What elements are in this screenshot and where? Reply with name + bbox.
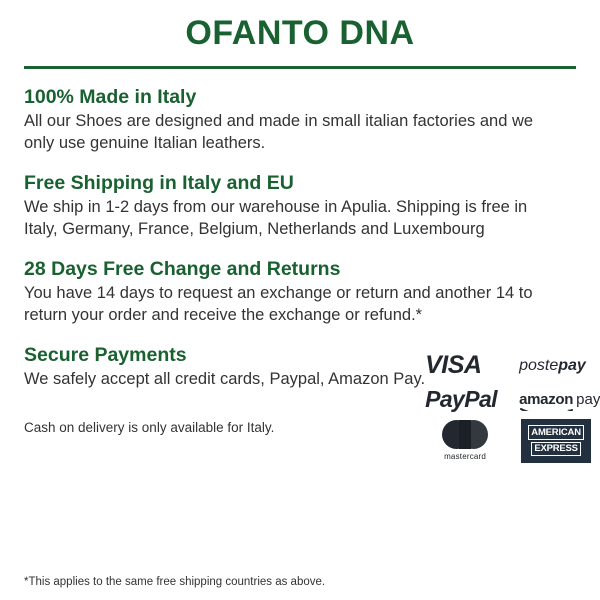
mastercard-circle-overlap (459, 420, 471, 449)
payments-text-block: Secure Payments We safely accept all cre… (24, 344, 425, 437)
section-returns: 28 Days Free Change and Returns You have… (24, 258, 576, 327)
american-express-icon: AMERICAN EXPRESS (521, 419, 591, 463)
payment-logo-row-1: VISA postepay (425, 349, 600, 383)
section-secure-payments: Secure Payments We safely accept all cre… (24, 344, 576, 465)
cash-on-delivery-note: Cash on delivery is only available for I… (24, 391, 425, 437)
section-body: You have 14 days to request an exchange … (24, 283, 544, 327)
payment-logos: VISA postepay PayPal amazonpay (425, 344, 600, 465)
postepay-icon-light-text: poste (519, 357, 558, 374)
section-body: We safely accept all credit cards, Paypa… (24, 369, 425, 391)
section-heading: Secure Payments (24, 344, 425, 366)
mastercard-icon: mastercard (425, 420, 505, 461)
postepay-icon: postepay (519, 358, 586, 374)
ofanto-dna-info-panel: OFANTO DNA 100% Made in Italy All our Sh… (0, 0, 600, 600)
section-free-shipping: Free Shipping in Italy and EU We ship in… (24, 172, 576, 241)
mastercard-icon-label: mastercard (444, 452, 486, 461)
visa-icon: VISA (425, 353, 505, 378)
footnote: *This applies to the same free shipping … (24, 576, 325, 590)
amazon-smile-icon (520, 404, 575, 411)
section-body: All our Shoes are designed and made in s… (24, 111, 544, 155)
postepay-icon-bold-text: pay (558, 357, 586, 374)
american-express-icon-top-text: AMERICAN (528, 425, 584, 440)
amazon-pay-icon: amazonpay (519, 392, 600, 407)
payment-logo-row-2: PayPal amazonpay (425, 383, 600, 417)
page-title: OFANTO DNA (24, 0, 576, 50)
title-divider (24, 66, 576, 69)
section-body: We ship in 1-2 days from our warehouse i… (24, 197, 544, 241)
section-heading: 28 Days Free Change and Returns (24, 258, 576, 280)
mastercard-circles-icon (442, 420, 488, 449)
amazon-pay-icon-pay: pay (576, 391, 600, 408)
section-heading: 100% Made in Italy (24, 86, 576, 108)
section-made-in-italy: 100% Made in Italy All our Shoes are des… (24, 86, 576, 155)
american-express-icon-bottom-text: EXPRESS (531, 442, 580, 457)
section-heading: Free Shipping in Italy and EU (24, 172, 576, 194)
paypal-icon: PayPal (425, 388, 505, 411)
payment-logo-row-3: mastercard AMERICAN EXPRESS (425, 417, 600, 465)
